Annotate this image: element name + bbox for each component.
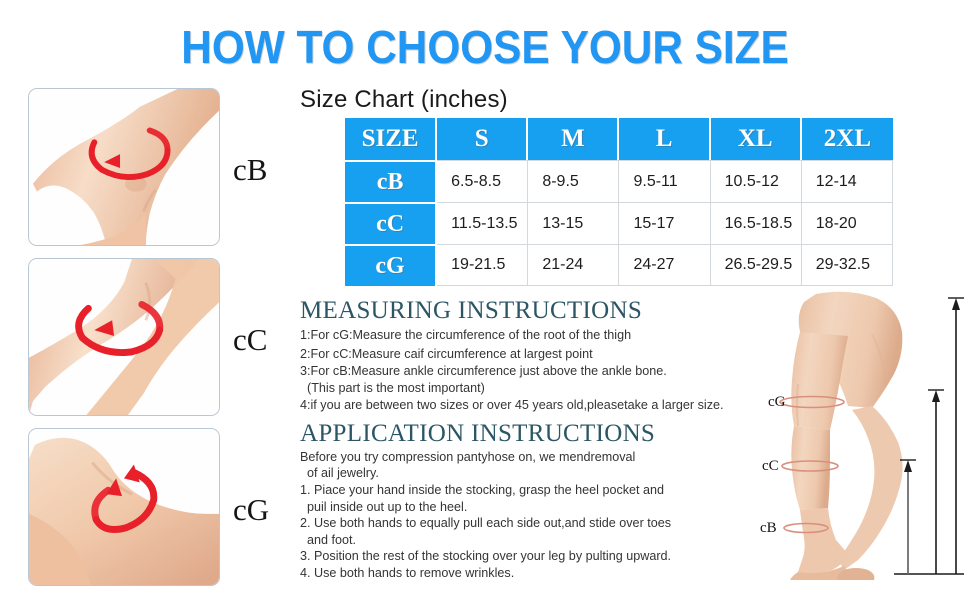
cell-cc-s: 11.5-13.5 [437,202,528,244]
table-row: cG 19-21.5 21-24 24-27 26.5-29.5 29-32.5 [345,244,893,286]
application-step-2-cont: and foot. [300,532,760,549]
measuring-line-4: 4:if you are between two sizes or over 4… [300,396,760,415]
measuring-instructions-heading: MEASURING INSTRUCTIONS [300,297,760,324]
measuring-line-3-note: (This part is the most important) [300,380,760,397]
cell-cg-s: 19-21.5 [437,244,528,286]
table-row: cB 6.5-8.5 8-9.5 9.5-11 10.5-12 12-14 [345,160,893,202]
application-step-1-cont: puil inside out up to the heel. [300,499,760,516]
calf-measure-illustration [28,258,220,416]
cell-cb-m: 8-9.5 [528,160,619,202]
table-header-s: S [437,118,528,160]
leg-tag-cc: cC [762,458,779,475]
measuring-line-2: 2:For cC:Measure caif circumference at l… [300,345,760,364]
cell-cc-l: 15-17 [619,202,710,244]
table-header-m: M [528,118,619,160]
cell-cg-l: 24-27 [619,244,710,286]
size-chart-heading: Size Chart (inches) [300,86,508,114]
diagram-row-cc: cC [28,258,290,421]
row-label-cc: cC [345,202,437,244]
row-label-cb: cB [345,160,437,202]
application-instructions-heading: APPLICATION INSTRUCTIONS [300,420,760,447]
application-step-1: 1. Piace your hand inside the stocking, … [300,482,760,499]
cell-cb-xl: 10.5-12 [711,160,802,202]
diagram-row-cb: cB [28,88,290,251]
ankle-measure-illustration [28,88,220,246]
table-header-xl: XL [711,118,802,160]
application-step-2: 2. Use both hands to equally pull each s… [300,515,760,532]
instructions-section: MEASURING INSTRUCTIONS 1:For cG:Measure … [300,297,760,582]
measuring-line-1: 1:For cG:Measure the circumference of th… [300,326,760,345]
stocking-leg-illustration: cG cC cB [752,288,970,588]
cell-cg-xl: 26.5-29.5 [711,244,802,286]
cell-cc-xl: 16.5-18.5 [711,202,802,244]
table-header-size: SIZE [345,118,437,160]
row-label-cg: cG [345,244,437,286]
application-intro-line-1: Before you try compression pantyhose on,… [300,449,760,466]
measurement-diagram-column: cB [28,88,290,598]
cell-cb-s: 6.5-8.5 [437,160,528,202]
diagram-label-cg: cG [233,492,269,528]
table-header-row: SIZE S M L XL 2XL [345,118,893,160]
page-title: HOW TO CHOOSE YOUR SIZE [39,20,931,74]
leg-tag-cb: cB [760,520,777,537]
leg-tag-cg: cG [768,394,786,411]
cell-cc-m: 13-15 [528,202,619,244]
table-header-l: L [619,118,710,160]
table-header-2xl: 2XL [802,118,893,160]
application-step-4: 4. Use both hands to remove wrinkles. [300,565,760,582]
diagram-label-cc: cC [233,322,267,358]
cell-cg-2xl: 29-32.5 [802,244,893,286]
thigh-measure-illustration [28,428,220,586]
table-row: cC 11.5-13.5 13-15 15-17 16.5-18.5 18-20 [345,202,893,244]
cell-cc-2xl: 18-20 [802,202,893,244]
application-step-3: 3. Position the rest of the stocking ove… [300,548,760,565]
size-chart-table: SIZE S M L XL 2XL cB 6.5-8.5 8-9.5 9.5-1… [345,118,893,286]
application-intro-line-2: of ail jewelry. [300,465,760,482]
diagram-row-cg: cG [28,428,290,591]
diagram-label-cb: cB [233,152,267,188]
infographic-page: HOW TO CHOOSE YOUR SIZE [0,0,970,600]
cell-cg-m: 21-24 [528,244,619,286]
cell-cb-2xl: 12-14 [802,160,893,202]
measuring-line-3: 3:For cB:Measure ankle circumference jus… [300,363,760,380]
cell-cb-l: 9.5-11 [619,160,710,202]
